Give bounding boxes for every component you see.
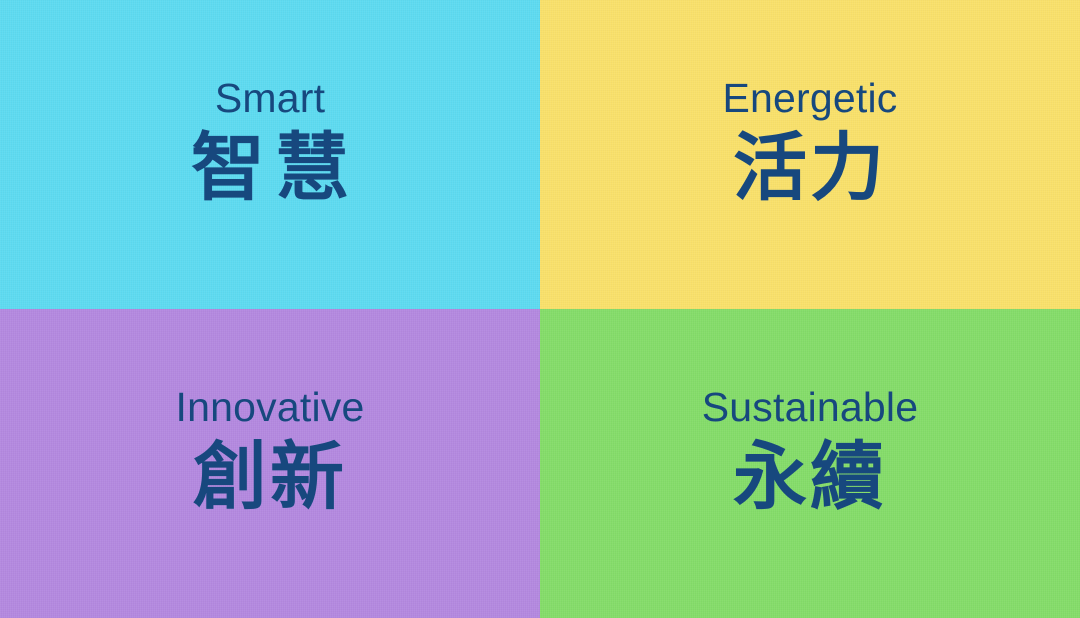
brand-value-grid: Smart 智慧 Energetic 活力 Innovative 創新 Sust… — [0, 0, 1080, 618]
quadrant-sustainable-text-stack: Sustainable 永續 — [702, 387, 918, 514]
quadrant-innovative-text-stack: Innovative 創新 — [176, 387, 365, 514]
quadrant-energetic-text-stack: Energetic 活力 — [722, 78, 897, 205]
quadrant-innovative-label-zh: 創新 — [193, 440, 347, 514]
quadrant-innovative: Innovative 創新 — [0, 309, 540, 618]
quadrant-smart-label-zh: 智慧 — [181, 131, 359, 205]
quadrant-smart-label-en: Smart — [215, 78, 325, 119]
quadrant-energetic-label-zh: 活力 — [733, 131, 887, 205]
quadrant-sustainable-label-en: Sustainable — [702, 387, 918, 428]
quadrant-innovative-label-en: Innovative — [176, 387, 365, 428]
quadrant-smart-text-stack: Smart 智慧 — [181, 78, 359, 205]
quadrant-sustainable-label-zh: 永續 — [733, 440, 887, 514]
quadrant-sustainable: Sustainable 永續 — [540, 309, 1080, 618]
quadrant-energetic: Energetic 活力 — [540, 0, 1080, 309]
quadrant-energetic-label-en: Energetic — [722, 78, 897, 119]
quadrant-smart: Smart 智慧 — [0, 0, 540, 309]
